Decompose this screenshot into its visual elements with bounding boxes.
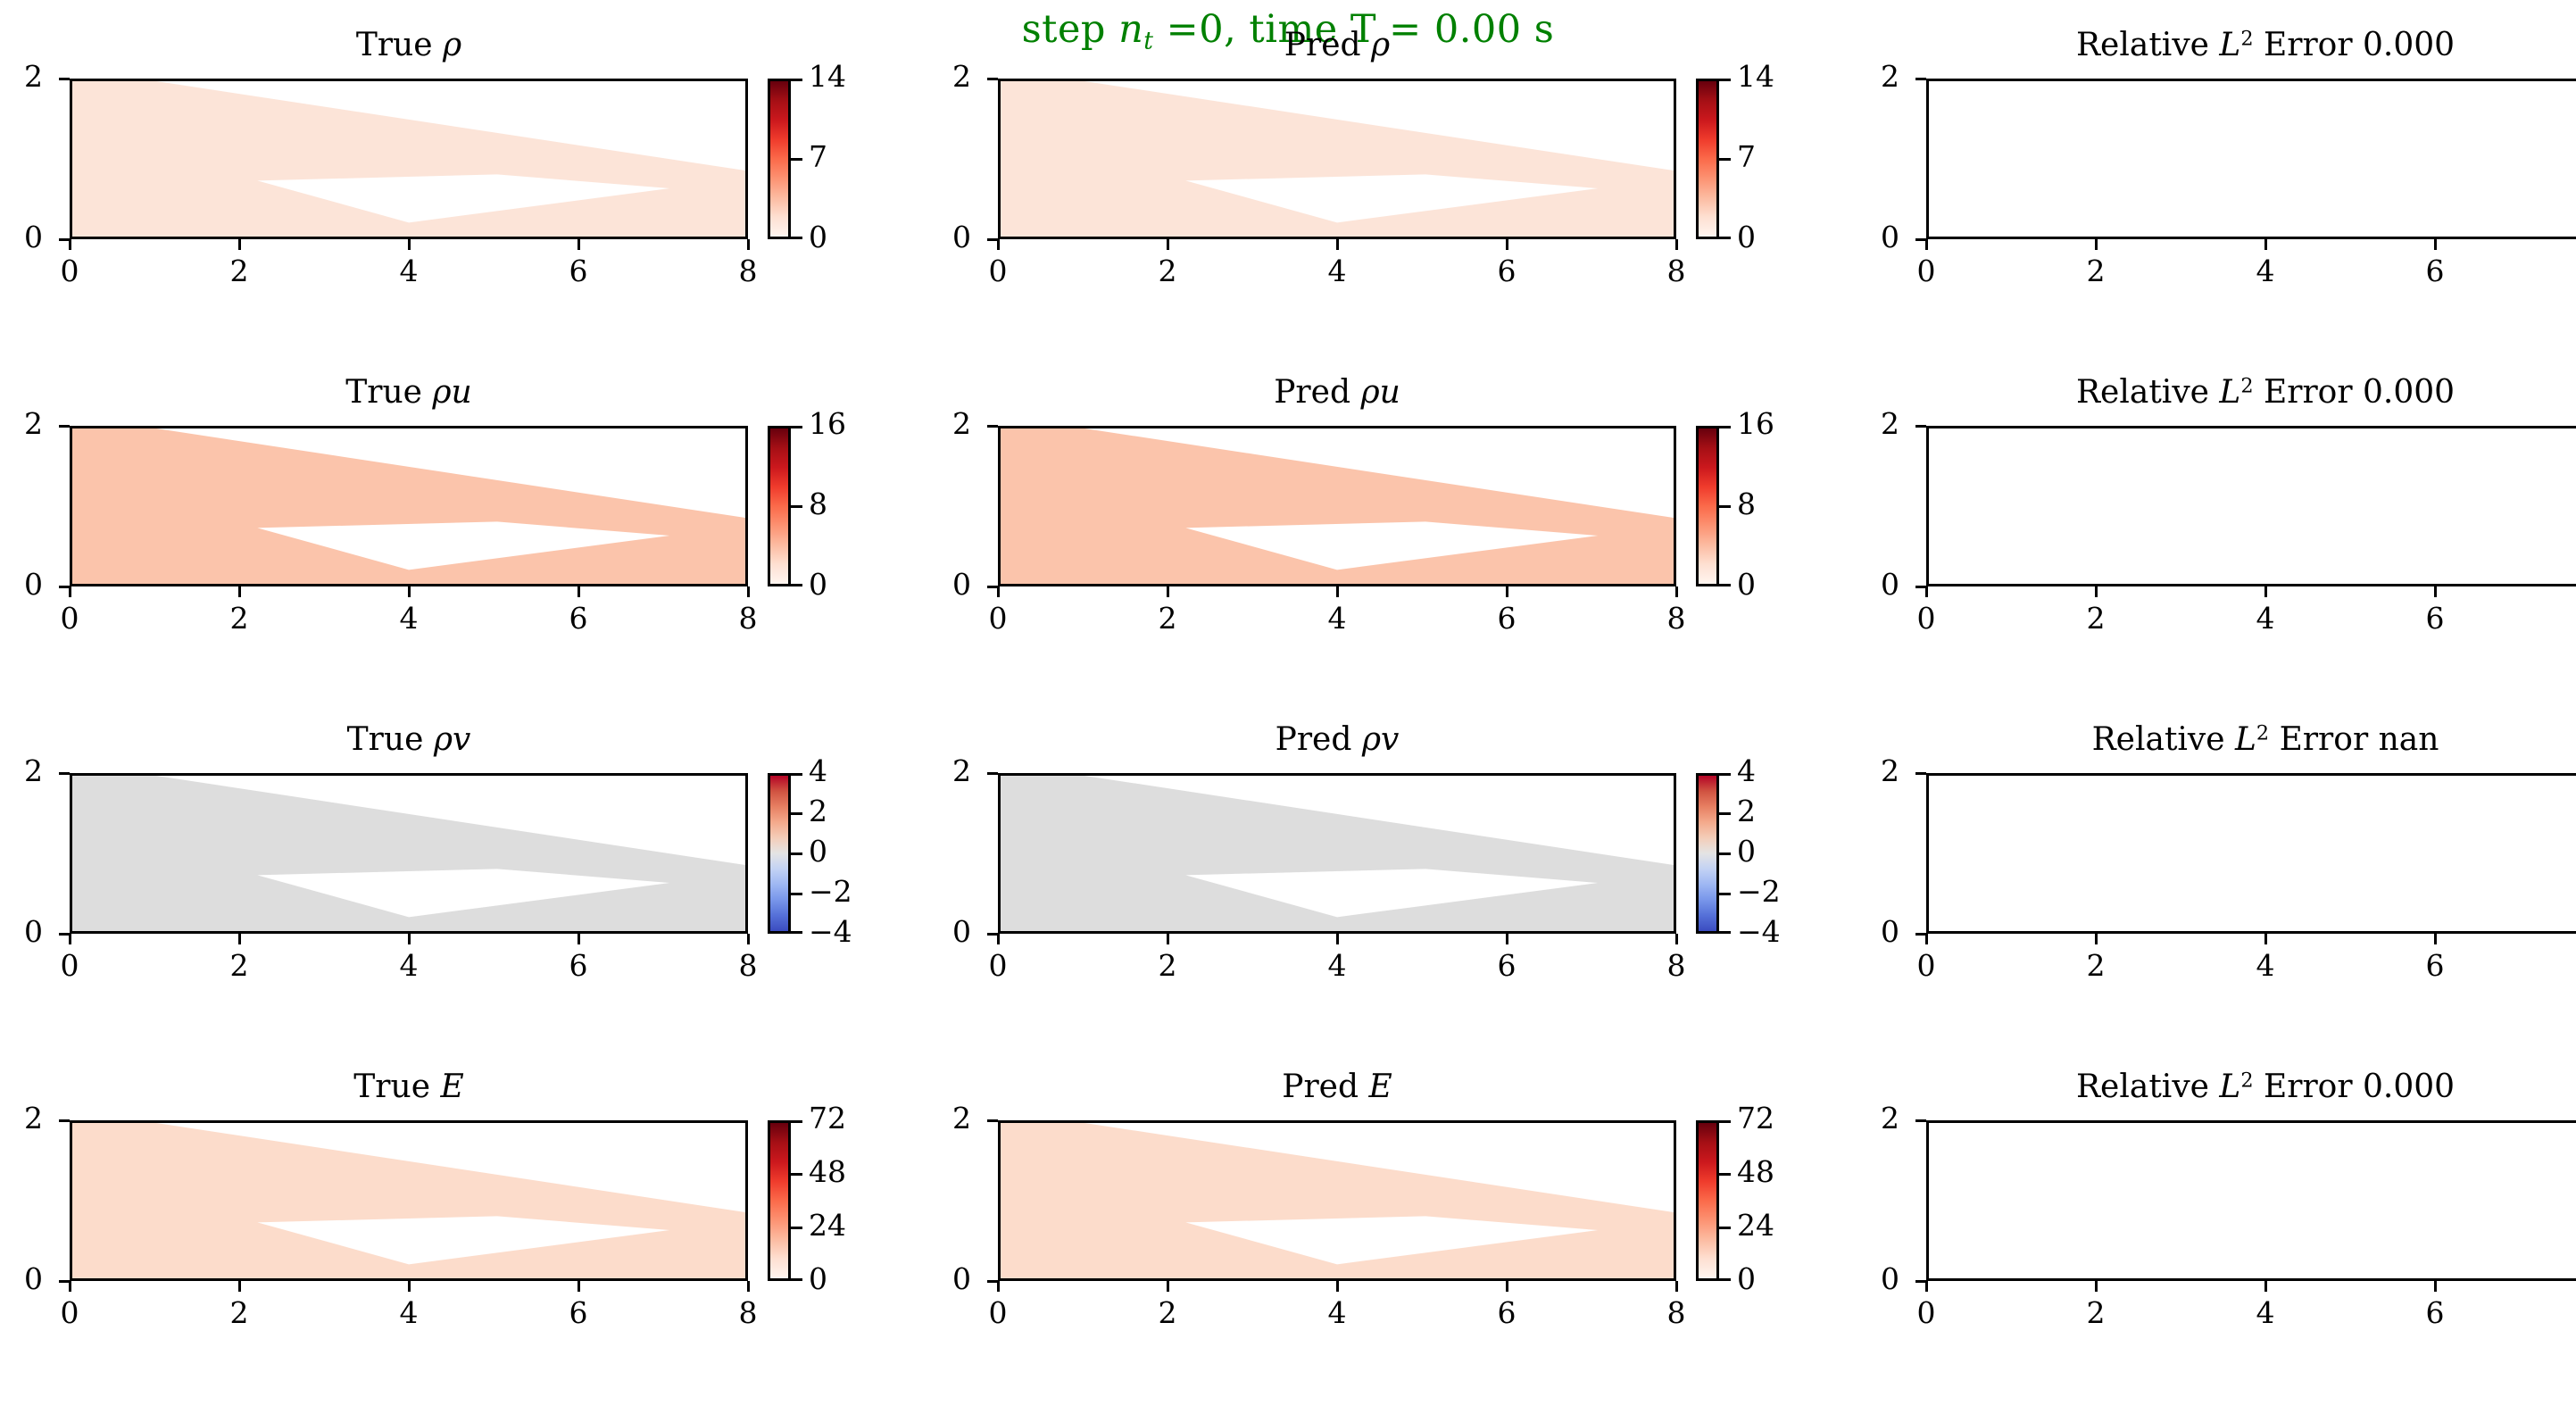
- x-tick-label: 8: [1649, 948, 1703, 983]
- x-tick: [578, 1281, 580, 1292]
- x-tick-label: 6: [1480, 948, 1533, 983]
- x-tick-label: 4: [1310, 601, 1364, 636]
- colorbar-r2c0: [768, 773, 791, 934]
- x-tick-label: 6: [1480, 254, 1533, 288]
- colorbar-tick: [1719, 1173, 1731, 1176]
- x-tick: [1167, 1281, 1169, 1292]
- colorbar-tick-label: 0: [809, 1261, 827, 1296]
- colorbar-tick-label: 14: [809, 59, 846, 94]
- colorbar-tick-label: 0: [1737, 567, 1756, 602]
- colorbar-tick-label: 8: [1737, 487, 1756, 521]
- title-tail: Error 0.000: [2254, 27, 2456, 63]
- x-tick-label: 2: [1141, 254, 1194, 288]
- x-tick-label: 4: [382, 601, 436, 636]
- colorbar-tick: [791, 853, 802, 855]
- x-tick: [2264, 586, 2267, 597]
- colorbar-tick-label: 0: [1737, 1261, 1756, 1296]
- panel-error-r3c2: Relative L2 Error 0.000: [1855, 1069, 2576, 1069]
- title-variable: L: [2219, 27, 2240, 63]
- x-tick: [1925, 239, 1928, 250]
- y-tick-label: 2: [918, 753, 971, 788]
- title-tail: Error 0.000: [2254, 1069, 2456, 1105]
- panel-title: Pred ρ: [927, 27, 1748, 63]
- x-tick-label: 0: [43, 601, 96, 636]
- colorbar-tick: [791, 893, 802, 895]
- x-tick-label: 2: [212, 601, 266, 636]
- x-tick-label: 0: [971, 601, 1025, 636]
- x-tick-label: 6: [1480, 1295, 1533, 1330]
- colorbar-tick: [1719, 1120, 1731, 1123]
- colorbar-tick-label: 72: [809, 1101, 846, 1135]
- y-tick-label: 0: [0, 220, 43, 254]
- y-tick: [1915, 933, 1926, 936]
- x-tick: [408, 586, 411, 597]
- y-tick: [1915, 78, 1926, 80]
- x-tick-label: 6: [2408, 254, 2462, 288]
- colorbar-tick: [1719, 893, 1731, 895]
- colorbar-tick-label: −2: [1737, 874, 1781, 909]
- y-tick: [987, 238, 998, 241]
- x-tick: [997, 586, 1000, 597]
- colorbar-tick: [791, 1173, 802, 1176]
- y-tick: [1915, 425, 1926, 428]
- colorbar-tick: [1719, 1227, 1731, 1229]
- y-tick: [987, 1280, 998, 1283]
- title-variable: L: [2219, 1069, 2240, 1105]
- colorbar-tick-label: 16: [1737, 406, 1774, 441]
- field-region: [1001, 1123, 1674, 1278]
- panel-title: True ρv: [0, 721, 819, 758]
- colorbar-tick: [791, 237, 802, 239]
- title-variable: E: [1368, 1069, 1392, 1105]
- y-tick-label: 0: [918, 567, 971, 602]
- title-lead: Relative: [2092, 721, 2235, 758]
- field-region: [1001, 81, 1674, 237]
- x-tick: [69, 586, 71, 597]
- x-tick: [1675, 586, 1678, 597]
- axes-error-r2c2: [1926, 773, 2576, 934]
- x-tick-label: 6: [2408, 601, 2462, 636]
- x-tick-label: 0: [43, 254, 96, 288]
- field-mesh: [1001, 776, 1674, 931]
- colorbar-tick: [1719, 584, 1731, 586]
- y-tick: [59, 238, 70, 241]
- panel-title: Pred E: [927, 1069, 1748, 1105]
- x-tick-label: 6: [1480, 601, 1533, 636]
- y-tick: [59, 425, 70, 428]
- x-tick-label: 8: [1649, 601, 1703, 636]
- colorbar-tick-label: 0: [809, 567, 827, 602]
- colorbar-tick: [791, 158, 802, 161]
- y-tick-label: 2: [1846, 59, 1899, 94]
- x-tick: [997, 239, 1000, 250]
- colorbar-tick: [1719, 931, 1731, 934]
- x-tick-label: 8: [1649, 254, 1703, 288]
- colorbar-tick-label: 7: [1737, 139, 1756, 174]
- x-tick-label: 6: [552, 254, 605, 288]
- y-tick: [987, 425, 998, 428]
- panel-error-r0c2: Relative L2 Error 0.000: [1855, 27, 2576, 28]
- y-tick: [987, 933, 998, 936]
- panel-title: True E: [0, 1069, 819, 1105]
- panel-field-r0c0: True ρ: [0, 27, 819, 28]
- y-tick-label: 2: [0, 1101, 43, 1135]
- x-tick: [1925, 934, 1928, 944]
- x-tick-label: 4: [382, 948, 436, 983]
- colorbar-r2c1: [1696, 773, 1719, 934]
- axes-field-r2c0: [70, 773, 748, 934]
- axes-field-r3c0: [70, 1120, 748, 1281]
- x-tick-label: 4: [1310, 1295, 1364, 1330]
- y-tick: [59, 586, 70, 588]
- panel-title: Relative L2 Error 0.000: [1855, 1069, 2576, 1105]
- x-tick: [1925, 586, 1928, 597]
- x-tick: [2434, 586, 2437, 597]
- panel-title: True ρu: [0, 374, 819, 411]
- x-tick-label: 0: [1899, 601, 1953, 636]
- colorbar-tick-label: 7: [809, 139, 827, 174]
- axes-error-r0c2: [1926, 79, 2576, 239]
- x-tick-label: 0: [43, 1295, 96, 1330]
- field-mesh: [1001, 1123, 1674, 1278]
- panel-title: Relative L2 Error nan: [1855, 721, 2576, 758]
- colorbar-tick: [1719, 158, 1731, 161]
- y-tick: [1915, 238, 1926, 241]
- colorbar-r0c1: [1696, 79, 1719, 239]
- title-lead: Pred: [1274, 374, 1360, 411]
- y-tick: [987, 586, 998, 588]
- y-tick-label: 2: [0, 406, 43, 441]
- colorbar-tick-label: 14: [1737, 59, 1774, 94]
- field-mesh: [1001, 81, 1674, 237]
- x-tick-label: 4: [2239, 948, 2292, 983]
- colorbar-tick-label: 48: [809, 1154, 846, 1189]
- title-lead: True: [356, 27, 443, 63]
- y-tick: [1915, 1280, 1926, 1283]
- x-tick: [2434, 934, 2437, 944]
- y-tick: [59, 933, 70, 936]
- y-tick-label: 0: [0, 914, 43, 949]
- colorbar-r3c1: [1696, 1120, 1719, 1281]
- y-tick-label: 0: [0, 567, 43, 602]
- title-lead: True: [347, 721, 434, 758]
- panel-error-r1c2: Relative L2 Error 0.000: [1855, 374, 2576, 375]
- panel-title: Pred ρv: [927, 721, 1748, 758]
- axes-field-r2c1: [998, 773, 1676, 934]
- colorbar-tick-label: −2: [809, 874, 852, 909]
- field-mesh: [72, 1123, 745, 1278]
- colorbar-tick: [1719, 237, 1731, 239]
- x-tick: [408, 1281, 411, 1292]
- y-tick-label: 0: [918, 1261, 971, 1296]
- x-tick: [747, 586, 750, 597]
- title-lead: Pred: [1276, 721, 1362, 758]
- x-tick: [1336, 586, 1339, 597]
- x-tick-label: 4: [382, 1295, 436, 1330]
- x-tick-label: 8: [721, 1295, 775, 1330]
- title-variable: ρv: [434, 721, 471, 758]
- x-tick-label: 0: [1899, 254, 1953, 288]
- title-superscript: 2: [2240, 374, 2253, 397]
- title-variable: ρu: [1360, 374, 1400, 411]
- x-tick: [1925, 1281, 1928, 1292]
- colorbar-tick: [791, 426, 802, 428]
- axes-field-r1c1: [998, 426, 1676, 586]
- title-lead: Relative: [2076, 374, 2219, 411]
- colorbar-tick: [791, 79, 802, 81]
- x-tick-label: 2: [212, 948, 266, 983]
- x-tick: [69, 239, 71, 250]
- title-lead: Pred: [1282, 1069, 1368, 1105]
- x-tick-label: 2: [212, 1295, 266, 1330]
- panel-field-r0c1: Pred ρ: [927, 27, 1748, 28]
- y-tick: [987, 1119, 998, 1122]
- x-tick-label: 8: [721, 254, 775, 288]
- x-tick: [1167, 586, 1169, 597]
- x-tick: [2434, 239, 2437, 250]
- y-tick-label: 0: [1846, 220, 1899, 254]
- axes-error-r1c2: [1926, 426, 2576, 586]
- y-tick: [1915, 772, 1926, 775]
- x-tick: [1336, 1281, 1339, 1292]
- title-tail: Error 0.000: [2254, 374, 2456, 411]
- title-variable: ρv: [1362, 721, 1400, 758]
- title-lead: True: [345, 374, 432, 411]
- title-variable: ρ: [1371, 27, 1390, 63]
- colorbar-tick-label: 0: [1737, 834, 1756, 869]
- x-tick: [1506, 586, 1508, 597]
- x-tick: [1336, 934, 1339, 944]
- x-tick: [1506, 1281, 1508, 1292]
- y-tick: [59, 1280, 70, 1283]
- x-tick: [1167, 239, 1169, 250]
- colorbar-tick-label: 72: [1737, 1101, 1774, 1135]
- x-tick-label: 4: [2239, 1295, 2292, 1330]
- x-tick-label: 4: [1310, 948, 1364, 983]
- x-tick-label: 0: [43, 948, 96, 983]
- x-tick: [2264, 1281, 2267, 1292]
- colorbar-tick: [1719, 426, 1731, 428]
- y-tick-label: 2: [1846, 753, 1899, 788]
- y-tick-label: 0: [0, 1261, 43, 1296]
- x-tick-label: 8: [1649, 1295, 1703, 1330]
- x-tick: [238, 934, 241, 944]
- x-tick: [578, 239, 580, 250]
- panel-title: True ρ: [0, 27, 819, 63]
- y-tick: [987, 772, 998, 775]
- y-tick-label: 2: [1846, 406, 1899, 441]
- x-tick-label: 2: [2069, 601, 2123, 636]
- title-superscript: 2: [2240, 27, 2253, 50]
- x-tick: [2095, 934, 2098, 944]
- y-tick-label: 2: [918, 406, 971, 441]
- y-tick-label: 2: [1846, 1101, 1899, 1135]
- title-lead: Relative: [2076, 27, 2219, 63]
- title-variable: ρ: [443, 27, 461, 63]
- x-tick-label: 4: [382, 254, 436, 288]
- x-tick: [2095, 239, 2098, 250]
- colorbar-tick-label: −4: [809, 914, 852, 949]
- colorbar-tick-label: 8: [809, 487, 827, 521]
- field-mesh: [72, 776, 745, 931]
- panel-field-r2c0: True ρv: [0, 721, 819, 722]
- y-tick-label: 0: [918, 220, 971, 254]
- x-tick-label: 4: [2239, 601, 2292, 636]
- y-tick: [1915, 586, 1926, 588]
- colorbar-tick: [791, 505, 802, 508]
- colorbar-tick: [791, 1278, 802, 1281]
- x-tick-label: 4: [1310, 254, 1364, 288]
- panel-field-r1c1: Pred ρu: [927, 374, 1748, 375]
- field-mesh: [72, 428, 745, 584]
- colorbar-tick-label: −4: [1737, 914, 1781, 949]
- colorbar-tick: [791, 931, 802, 934]
- x-tick-label: 8: [721, 948, 775, 983]
- title-superscript: 2: [2256, 721, 2269, 744]
- x-tick: [2264, 934, 2267, 944]
- x-tick: [747, 934, 750, 944]
- colorbar-tick: [1719, 812, 1731, 815]
- y-tick-label: 2: [918, 1101, 971, 1135]
- x-tick-label: 6: [552, 1295, 605, 1330]
- x-tick: [747, 1281, 750, 1292]
- x-tick-label: 2: [2069, 948, 2123, 983]
- x-tick-label: 8: [721, 601, 775, 636]
- panel-error-r2c2: Relative L2 Error nan: [1855, 721, 2576, 722]
- panel-title: Relative L2 Error 0.000: [1855, 27, 2576, 63]
- x-tick: [1167, 934, 1169, 944]
- title-variable: L: [2219, 374, 2240, 411]
- colorbar-tick-label: 0: [1737, 220, 1756, 254]
- panel-title: Relative L2 Error 0.000: [1855, 374, 2576, 411]
- y-tick-label: 0: [1846, 1261, 1899, 1296]
- colorbar-tick-label: 0: [809, 834, 827, 869]
- x-tick: [2434, 1281, 2437, 1292]
- field-region: [72, 428, 745, 584]
- title-variable: ρu: [432, 374, 471, 411]
- colorbar-tick: [791, 584, 802, 586]
- colorbar-tick-label: 4: [809, 753, 827, 788]
- x-tick: [1506, 239, 1508, 250]
- x-tick: [1675, 1281, 1678, 1292]
- colorbar-tick-label: 24: [1737, 1208, 1774, 1243]
- x-tick-label: 0: [971, 1295, 1025, 1330]
- colorbar-tick: [791, 1120, 802, 1123]
- x-tick: [408, 239, 411, 250]
- panel-title: Pred ρu: [927, 374, 1748, 411]
- x-tick: [2095, 586, 2098, 597]
- panel-field-r2c1: Pred ρv: [927, 721, 1748, 722]
- x-tick: [578, 934, 580, 944]
- field-mesh: [72, 81, 745, 237]
- colorbar-tick-label: 16: [809, 406, 846, 441]
- y-tick-label: 2: [0, 59, 43, 94]
- x-tick-label: 2: [1141, 601, 1194, 636]
- x-tick: [69, 1281, 71, 1292]
- x-tick: [238, 586, 241, 597]
- axes-field-r0c0: [70, 79, 748, 239]
- colorbar-tick: [791, 773, 802, 776]
- y-tick: [59, 78, 70, 80]
- y-tick: [987, 78, 998, 80]
- field-region: [72, 81, 745, 237]
- x-tick-label: 2: [212, 254, 266, 288]
- field-region: [72, 1123, 745, 1278]
- colorbar-r1c0: [768, 426, 791, 586]
- x-tick: [238, 1281, 241, 1292]
- title-variable: L: [2235, 721, 2256, 758]
- y-tick-label: 0: [1846, 914, 1899, 949]
- colorbar-tick: [1719, 505, 1731, 508]
- x-tick-label: 6: [552, 948, 605, 983]
- x-tick-label: 0: [1899, 1295, 1953, 1330]
- field-mesh: [1001, 428, 1674, 584]
- x-tick-label: 2: [1141, 948, 1194, 983]
- field-region: [1001, 776, 1674, 931]
- colorbar-tick-label: 24: [809, 1208, 846, 1243]
- y-tick: [59, 1119, 70, 1122]
- axes-field-r0c1: [998, 79, 1676, 239]
- x-tick: [1675, 934, 1678, 944]
- title-lead: Pred: [1284, 27, 1371, 63]
- y-tick-label: 2: [0, 753, 43, 788]
- x-tick: [2264, 239, 2267, 250]
- x-tick: [238, 239, 241, 250]
- x-tick-label: 6: [552, 601, 605, 636]
- x-tick-label: 2: [1141, 1295, 1194, 1330]
- colorbar-tick-label: 48: [1737, 1154, 1774, 1189]
- x-tick: [997, 1281, 1000, 1292]
- panel-field-r1c0: True ρu: [0, 374, 819, 375]
- colorbar-r3c0: [768, 1120, 791, 1281]
- colorbar-tick: [1719, 853, 1731, 855]
- x-tick-label: 6: [2408, 948, 2462, 983]
- x-tick-label: 4: [2239, 254, 2292, 288]
- x-tick: [408, 934, 411, 944]
- y-tick: [59, 772, 70, 775]
- x-tick-label: 0: [1899, 948, 1953, 983]
- x-tick: [1336, 239, 1339, 250]
- y-tick-label: 2: [918, 59, 971, 94]
- x-tick: [1506, 934, 1508, 944]
- colorbar-r0c0: [768, 79, 791, 239]
- colorbar-tick-label: 0: [809, 220, 827, 254]
- x-tick: [69, 934, 71, 944]
- colorbar-tick: [791, 812, 802, 815]
- x-tick-label: 2: [2069, 254, 2123, 288]
- colorbar-tick: [1719, 1278, 1731, 1281]
- x-tick-label: 2: [2069, 1295, 2123, 1330]
- y-tick: [1915, 1119, 1926, 1122]
- x-tick: [578, 586, 580, 597]
- x-tick: [1675, 239, 1678, 250]
- title-lead: True: [353, 1069, 440, 1105]
- y-tick-label: 0: [1846, 567, 1899, 602]
- field-region: [1001, 428, 1674, 584]
- x-tick-label: 0: [971, 948, 1025, 983]
- title-variable: E: [440, 1069, 463, 1105]
- x-tick: [997, 934, 1000, 944]
- colorbar-tick-label: 4: [1737, 753, 1756, 788]
- colorbar-r1c1: [1696, 426, 1719, 586]
- colorbar-tick: [1719, 79, 1731, 81]
- colorbar-tick: [791, 1227, 802, 1229]
- axes-field-r1c0: [70, 426, 748, 586]
- field-region: [72, 776, 745, 931]
- subplot-grid: True ρ02468021470Pred ρ02468021470Relati…: [0, 0, 2576, 1414]
- x-tick: [747, 239, 750, 250]
- x-tick-label: 0: [971, 254, 1025, 288]
